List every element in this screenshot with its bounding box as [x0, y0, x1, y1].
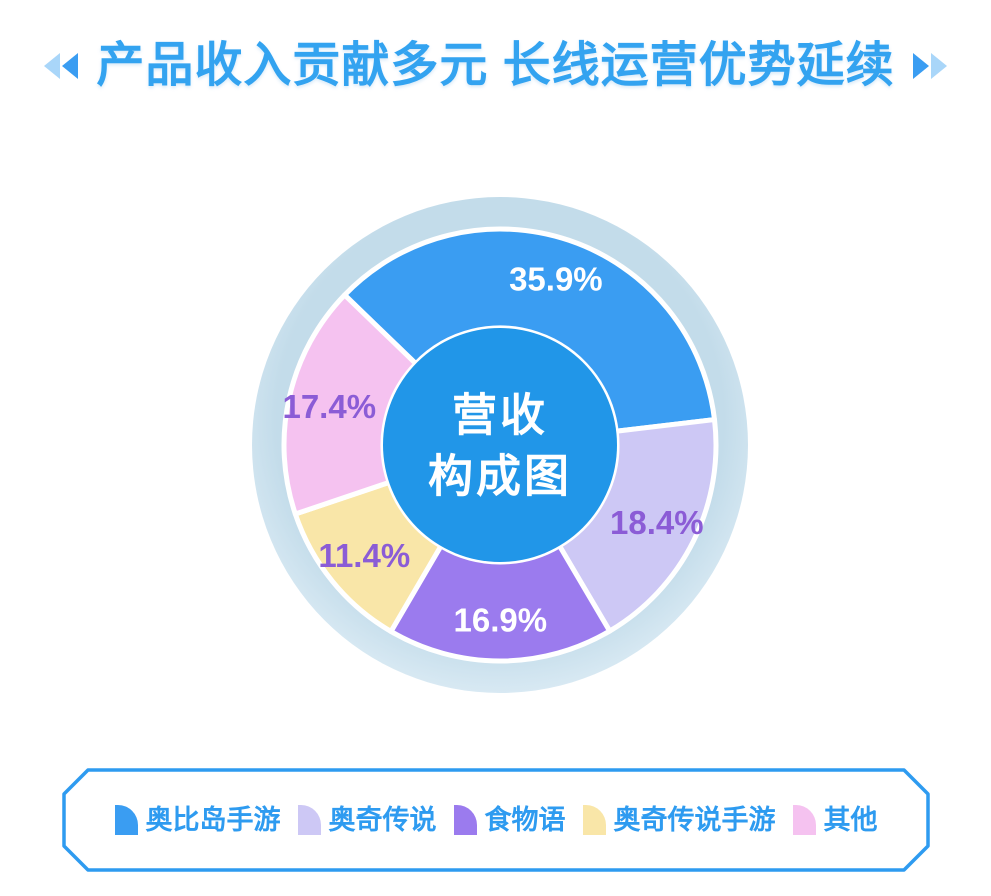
legend-item-label: 奥奇传说	[329, 807, 437, 834]
center-label-line1: 营收	[452, 390, 548, 441]
double-triangle-left-icon	[44, 53, 78, 79]
legend-item-list: 奥比岛手游奥奇传说食物语奥奇传说手游其他	[62, 768, 930, 872]
chart-legend: 奥比岛手游奥奇传说食物语奥奇传说手游其他	[62, 768, 930, 872]
legend-swatch-icon	[583, 805, 606, 835]
page-title: 产品收入贡献多元 长线运营优势延续	[96, 42, 894, 90]
legend-swatch-icon	[793, 805, 816, 835]
legend-item-2[interactable]: 奥奇传说	[298, 805, 437, 835]
legend-swatch-icon	[454, 805, 477, 835]
legend-item-1[interactable]: 奥比岛手游	[115, 805, 281, 835]
double-triangle-right-icon	[913, 53, 947, 79]
legend-item-label: 奥比岛手游	[146, 807, 281, 834]
legend-item-label: 其他	[824, 807, 878, 834]
legend-item-label: 食物语	[485, 807, 566, 834]
center-label-line2: 构成图	[428, 451, 572, 502]
pie-slice-label-1: 35.9%	[509, 261, 603, 298]
page-title-bar: 产品收入贡献多元 长线运营优势延续	[0, 30, 991, 102]
donut-svg: 营收 构成图 35.9%18.4%16.9%11.4%17.4%	[245, 185, 755, 705]
pie-slice-label-5: 17.4%	[282, 388, 376, 425]
legend-item-4[interactable]: 奥奇传说手游	[583, 805, 776, 835]
legend-swatch-icon	[115, 805, 138, 835]
legend-swatch-icon	[298, 805, 321, 835]
revenue-composition-donut-chart: 营收 构成图 35.9%18.4%16.9%11.4%17.4%	[245, 185, 755, 705]
legend-item-5[interactable]: 其他	[793, 805, 878, 835]
legend-item-3[interactable]: 食物语	[454, 805, 566, 835]
pie-slice-label-3: 16.9%	[454, 601, 548, 638]
pie-slice-label-4: 11.4%	[318, 537, 410, 574]
pie-slice-label-2: 18.4%	[610, 504, 704, 541]
legend-item-label: 奥奇传说手游	[614, 807, 776, 834]
center-hub-circle	[383, 328, 617, 562]
